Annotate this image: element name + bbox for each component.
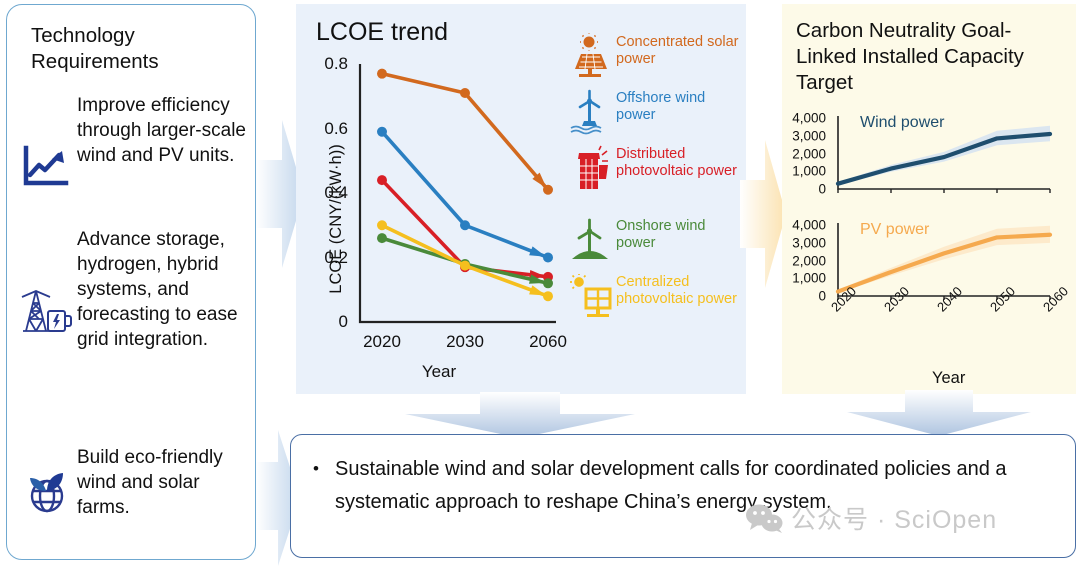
- arrow-middle-to-right: [740, 140, 788, 290]
- eco-globe-leaf-icon: [19, 445, 75, 515]
- capacity-y-tick: 3,000: [792, 235, 826, 250]
- lcoe-x-tick: 2060: [529, 332, 567, 352]
- lcoe-legend: Concentrated solar power Offshore wind p…: [564, 32, 744, 344]
- legend-label: Centralized photovoltaic power: [616, 272, 744, 308]
- trend-chart-icon: [19, 93, 75, 189]
- wind-series-label: Wind power: [860, 114, 944, 132]
- legend-label: Concentrated solar power: [616, 32, 744, 68]
- pv-capacity-chart: 01,0002,0003,0004,000 PV power 202020302…: [830, 219, 1060, 314]
- distributed-photovoltaic-icon: [564, 144, 616, 192]
- capacity-y-tick: 0: [818, 182, 826, 197]
- legend-item: Distributed photovoltaic power: [564, 144, 744, 212]
- arrow-right-to-bottom: [845, 390, 1035, 438]
- technology-requirements-panel: Technology Requirements Improve efficien…: [6, 4, 256, 560]
- capacity-y-tick: 4,000: [792, 218, 826, 233]
- requirement-text: Build eco-friendly wind and solar farms.: [75, 445, 251, 520]
- requirement-item-efficiency: Improve efficiency through larger-scale …: [19, 93, 251, 189]
- lcoe-trend-panel: LCOE trend LCOE (CNY/(kW·h)) 00.20.40.60…: [296, 4, 746, 394]
- wind-capacity-chart: 01,0002,0003,0004,000 Wind power: [830, 112, 1060, 207]
- capacity-y-tick: 3,000: [792, 128, 826, 143]
- legend-label: Distributed photovoltaic power: [616, 144, 744, 180]
- conclusion-panel: • Sustainable wind and solar development…: [290, 434, 1076, 558]
- watermark: 公众号 · SciOpen: [745, 500, 997, 536]
- capacity-y-tick: 4,000: [792, 111, 826, 126]
- lcoe-chart-title: LCOE trend: [316, 18, 448, 47]
- onshore-wind-power-icon: [564, 216, 616, 264]
- lcoe-x-tick: 2020: [363, 332, 401, 352]
- legend-item: Concentrated solar power: [564, 32, 744, 84]
- carbon-neutrality-x-label: Year: [932, 369, 965, 388]
- capacity-y-tick: 2,000: [792, 253, 826, 268]
- offshore-wind-power-icon: [564, 88, 616, 136]
- carbon-neutrality-title: Carbon Neutrality Goal-Linked Installed …: [796, 18, 1066, 96]
- infographic-canvas: Technology Requirements Improve efficien…: [0, 0, 1080, 567]
- legend-label: Onshore wind power: [616, 216, 744, 252]
- centralized-photovoltaic-icon: [564, 272, 616, 320]
- lcoe-line-chart: LCOE (CNY/(kW·h)) 00.20.40.60.8 20202030…: [314, 54, 564, 384]
- requirement-text: Improve efficiency through larger-scale …: [75, 93, 251, 168]
- arrow-middle-to-bottom: [400, 392, 640, 440]
- bullet-marker: •: [313, 459, 319, 479]
- capacity-y-tick: 1,000: [792, 164, 826, 179]
- wechat-icon: [745, 503, 785, 533]
- pv-series-label: PV power: [860, 221, 929, 239]
- lcoe-x-axis-label: Year: [422, 362, 456, 382]
- power-grid-battery-icon: [19, 227, 75, 335]
- legend-label: Offshore wind power: [616, 88, 744, 124]
- requirement-item-storage: Advance storage, hydrogen, hybrid system…: [19, 227, 251, 352]
- capacity-y-tick: 2,000: [792, 146, 826, 161]
- legend-item: Offshore wind power: [564, 88, 744, 140]
- capacity-y-tick: 0: [818, 289, 826, 304]
- concentrated-solar-power-icon: [564, 32, 616, 80]
- carbon-neutrality-panel: Carbon Neutrality Goal-Linked Installed …: [782, 4, 1076, 394]
- watermark-text: 公众号 · SciOpen: [791, 500, 997, 536]
- legend-item: Onshore wind power: [564, 216, 744, 268]
- legend-item: Centralized photovoltaic power: [564, 272, 744, 340]
- requirement-item-eco: Build eco-friendly wind and solar farms.: [19, 445, 251, 520]
- lcoe-x-tick: 2030: [446, 332, 484, 352]
- requirement-text: Advance storage, hydrogen, hybrid system…: [75, 227, 251, 352]
- left-panel-title: Technology Requirements: [31, 23, 241, 75]
- capacity-y-tick: 1,000: [792, 271, 826, 286]
